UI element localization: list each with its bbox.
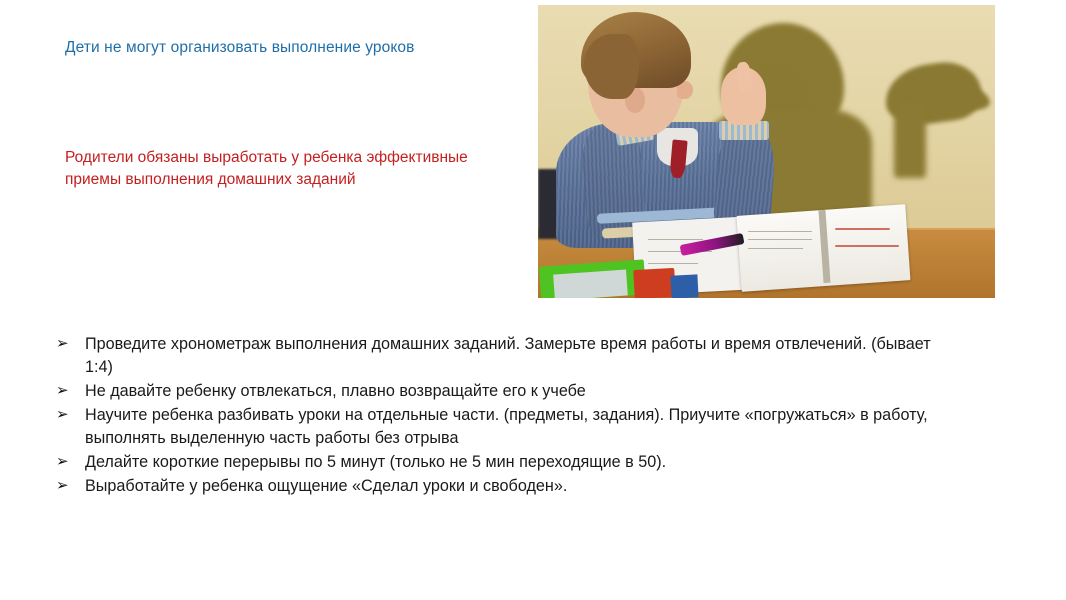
- slide-photo: [538, 5, 995, 298]
- subtitle-text: Родители обязаны выработать у ребенка эф…: [65, 147, 485, 192]
- bullet-list: ➢ Проведите хронометраж выполнения домаш…: [56, 333, 956, 499]
- list-item: ➢ Выработайте у ребенка ощущение «Сделал…: [56, 475, 956, 498]
- slide-canvas: Дети не могут организовать выполнение ур…: [0, 0, 1066, 600]
- photo-paper-textline: [648, 239, 703, 240]
- photo-book-redline: [835, 228, 890, 230]
- list-item-text: Не давайте ребенку отвлекаться, плавно в…: [85, 380, 956, 403]
- photo-paper-textline: [648, 263, 698, 264]
- photo-green-book-inner: [553, 269, 628, 298]
- list-item-text: Проведите хронометраж выполнения домашни…: [85, 333, 956, 379]
- arrow-bullet-icon: ➢: [56, 333, 85, 354]
- photo-book-textline: [748, 231, 812, 232]
- photo-book-textline: [748, 248, 803, 249]
- list-item-text: Выработайте у ребенка ощущение «Сделал у…: [85, 475, 956, 498]
- list-item: ➢ Научите ребенка разбивать уроки на отд…: [56, 404, 956, 450]
- list-item: ➢ Делайте короткие перерывы по 5 минут (…: [56, 451, 956, 474]
- photo-red-book: [633, 268, 676, 298]
- page-title: Дети не могут организовать выполнение ур…: [65, 38, 495, 59]
- photo-shadow-bird-column: [894, 102, 926, 178]
- list-item-text: Научите ребенка разбивать уроки на отдел…: [85, 404, 956, 450]
- list-item: ➢ Проведите хронометраж выполнения домаш…: [56, 333, 956, 379]
- arrow-bullet-icon: ➢: [56, 380, 85, 401]
- photo-book-textline: [748, 239, 812, 240]
- photo-book-redline: [835, 245, 899, 247]
- photo-blue-book: [670, 274, 699, 298]
- list-item: ➢ Не давайте ребенку отвлекаться, плавно…: [56, 380, 956, 403]
- photo-boy-hair-side: [584, 34, 639, 98]
- arrow-bullet-icon: ➢: [56, 404, 85, 425]
- list-item-text: Делайте короткие перерывы по 5 минут (то…: [85, 451, 956, 474]
- arrow-bullet-icon: ➢: [56, 451, 85, 472]
- arrow-bullet-icon: ➢: [56, 475, 85, 496]
